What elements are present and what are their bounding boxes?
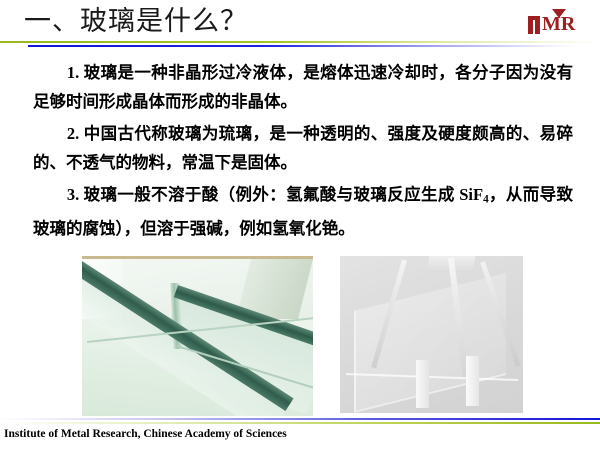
paragraph-3-text-before: 3. 玻璃一般不溶于酸（例外：氢氟酸与玻璃反应生成 bbox=[67, 185, 459, 204]
formula-sif4: SiF4 bbox=[459, 185, 488, 204]
paragraph-1: 1. 玻璃是一种非晶形过冷液体，是熔体迅速冷却时，各分子因为没有足够时间形成晶体… bbox=[33, 58, 573, 116]
slide-footer: Institute of Metal Research, Chinese Aca… bbox=[0, 418, 600, 450]
clear-glass-panels-photo bbox=[340, 256, 523, 413]
page-title: 一、玻璃是什么？ bbox=[24, 4, 248, 38]
imr-logo: MR bbox=[528, 9, 586, 35]
footer-blue-rule bbox=[0, 418, 600, 420]
slide: 一、玻璃是什么？ MR 1. 玻璃是一种非晶形过冷液体，是熔体迅速冷却时，各分子… bbox=[0, 0, 600, 450]
slide-body: 1. 玻璃是一种非晶形过冷液体，是熔体迅速冷却时，各分子因为没有足够时间形成晶体… bbox=[33, 58, 573, 246]
slide-header: 一、玻璃是什么？ MR bbox=[0, 0, 600, 52]
header-blue-rule bbox=[28, 45, 573, 47]
logo-letters: MR bbox=[542, 14, 575, 34]
photo-right-foot-2 bbox=[466, 356, 479, 406]
photo-right-foot-1 bbox=[416, 360, 429, 408]
header-green-rule bbox=[0, 41, 600, 43]
letter-i-block-icon bbox=[528, 16, 540, 34]
formula-base: SiF bbox=[459, 185, 483, 204]
paragraph-3: 3. 玻璃一般不溶于酸（例外：氢氟酸与玻璃反应生成 SiF4，从而导致玻璃的腐蚀… bbox=[33, 180, 573, 243]
footer-green-rule bbox=[0, 422, 600, 424]
footer-institution-text: Institute of Metal Research, Chinese Aca… bbox=[4, 427, 287, 441]
paragraph-2: 2. 中国古代称玻璃为琉璃，是一种透明的、强度及硬度颇高的、易碎的、不透气的物料… bbox=[33, 119, 573, 177]
glass-panels-green-edge-photo bbox=[82, 256, 313, 416]
